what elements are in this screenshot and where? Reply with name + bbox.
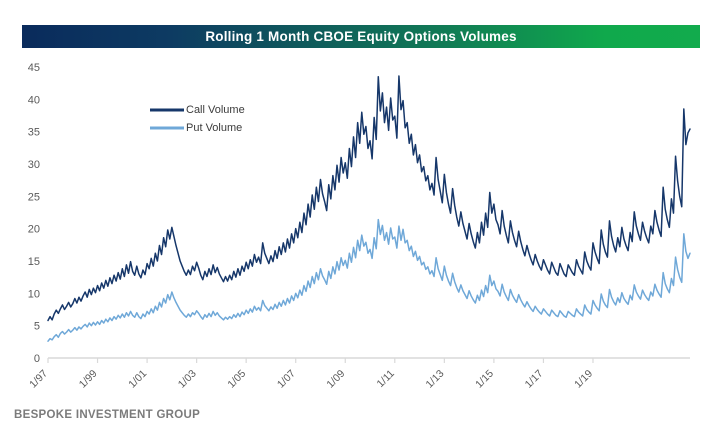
- y-tick-label: 35: [28, 127, 40, 139]
- x-tick-label: 1/01: [126, 368, 149, 391]
- chart-title-banner: Rolling 1 Month CBOE Equity Options Volu…: [22, 25, 700, 48]
- y-tick-label: 30: [28, 159, 40, 171]
- legend-label: Call Volume: [186, 104, 245, 116]
- chart-screenshot: Rolling 1 Month CBOE Equity Options Volu…: [0, 0, 721, 434]
- page-title: Rolling 1 Month CBOE Equity Options Volu…: [205, 29, 516, 44]
- y-axis-tick-labels: 051015202530354045: [28, 62, 40, 365]
- y-tick-label: 45: [28, 62, 40, 74]
- chart-legend: Call VolumePut Volume: [150, 104, 245, 134]
- x-tick-label: 1/99: [77, 368, 100, 391]
- x-tick-label: 1/19: [572, 368, 595, 391]
- x-tick-label: 1/09: [324, 368, 347, 391]
- x-tick-label: 1/07: [275, 368, 298, 391]
- y-tick-label: 15: [28, 256, 40, 268]
- axis-lines: [48, 358, 690, 363]
- y-tick-label: 25: [28, 191, 40, 203]
- x-tick-label: 1/97: [27, 368, 50, 391]
- y-tick-label: 40: [28, 94, 40, 106]
- x-tick-label: 1/11: [375, 368, 397, 390]
- x-tick-label: 1/17: [523, 368, 546, 391]
- x-tick-label: 1/05: [225, 368, 248, 391]
- series-line-call-volume: [48, 76, 690, 320]
- series-line-put-volume: [48, 220, 690, 342]
- y-tick-label: 5: [34, 321, 40, 333]
- y-tick-label: 0: [34, 353, 40, 365]
- x-tick-label: 1/13: [424, 368, 447, 391]
- y-tick-label: 10: [28, 288, 40, 300]
- x-tick-label: 1/15: [473, 368, 496, 391]
- chart-area: 051015202530354045 1/971/991/011/031/051…: [0, 48, 721, 398]
- x-axis-tick-labels: 1/971/991/011/031/051/071/091/111/131/15…: [27, 368, 595, 391]
- x-tick-label: 1/03: [176, 368, 199, 391]
- series-lines: [48, 76, 690, 341]
- y-tick-label: 20: [28, 224, 40, 236]
- source-attribution: BESPOKE INVESTMENT GROUP: [14, 409, 200, 421]
- legend-label: Put Volume: [186, 122, 242, 134]
- line-chart: 051015202530354045 1/971/991/011/031/051…: [0, 48, 721, 398]
